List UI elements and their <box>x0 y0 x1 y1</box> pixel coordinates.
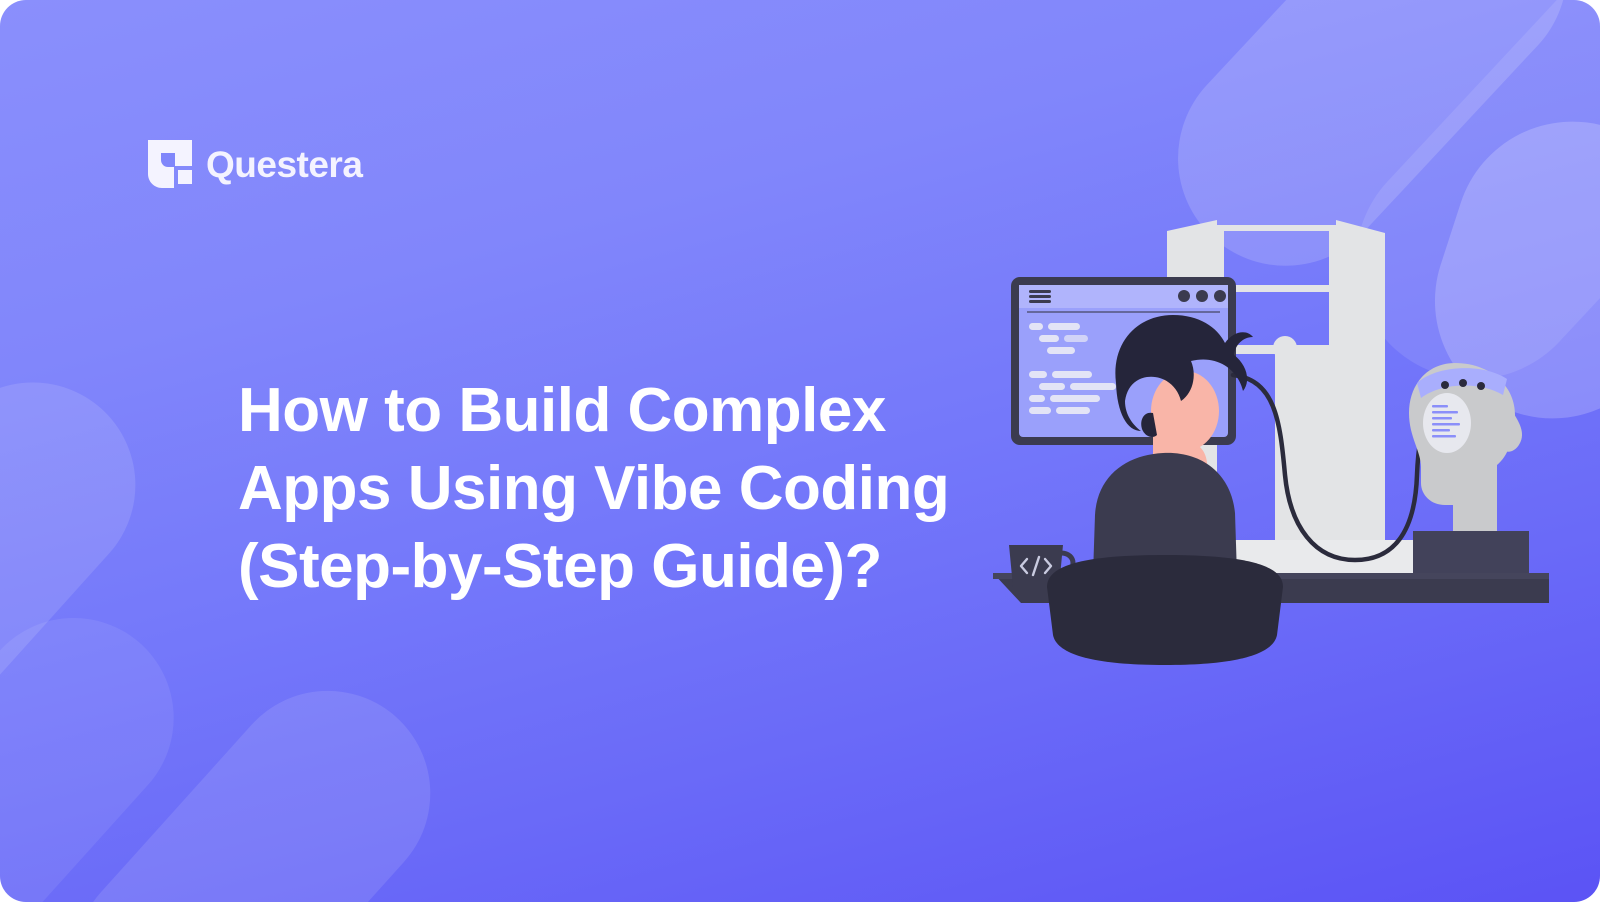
questera-shield-mark-icon <box>148 140 192 188</box>
ai-robot-head[interactable] <box>1409 363 1529 585</box>
decor-shape-bottom-left-1 <box>0 340 178 864</box>
decor-shape-bottom-left-2 <box>0 577 215 902</box>
brand-logo[interactable]: Questera <box>148 140 362 188</box>
window-dot-controls[interactable] <box>1178 290 1226 302</box>
developer-ai-scene-svg <box>985 215 1555 665</box>
brand-name: Questera <box>206 146 362 183</box>
office-chair-back <box>1047 555 1283 665</box>
title-line-2: Apps Using Vibe Coding <box>238 450 998 528</box>
hero-illustration <box>985 215 1555 665</box>
hamburger-menu-icon[interactable] <box>1029 290 1051 303</box>
title-line-1: How to Build Complex <box>238 372 998 450</box>
decor-shape-bottom <box>32 649 472 902</box>
curtain-right <box>1336 220 1385 545</box>
cover-canvas: Questera How to Build Complex Apps Using… <box>0 0 1600 902</box>
page-title: How to Build Complex Apps Using Vibe Cod… <box>238 372 998 606</box>
title-line-3: (Step-by-Step Guide)? <box>238 528 998 606</box>
